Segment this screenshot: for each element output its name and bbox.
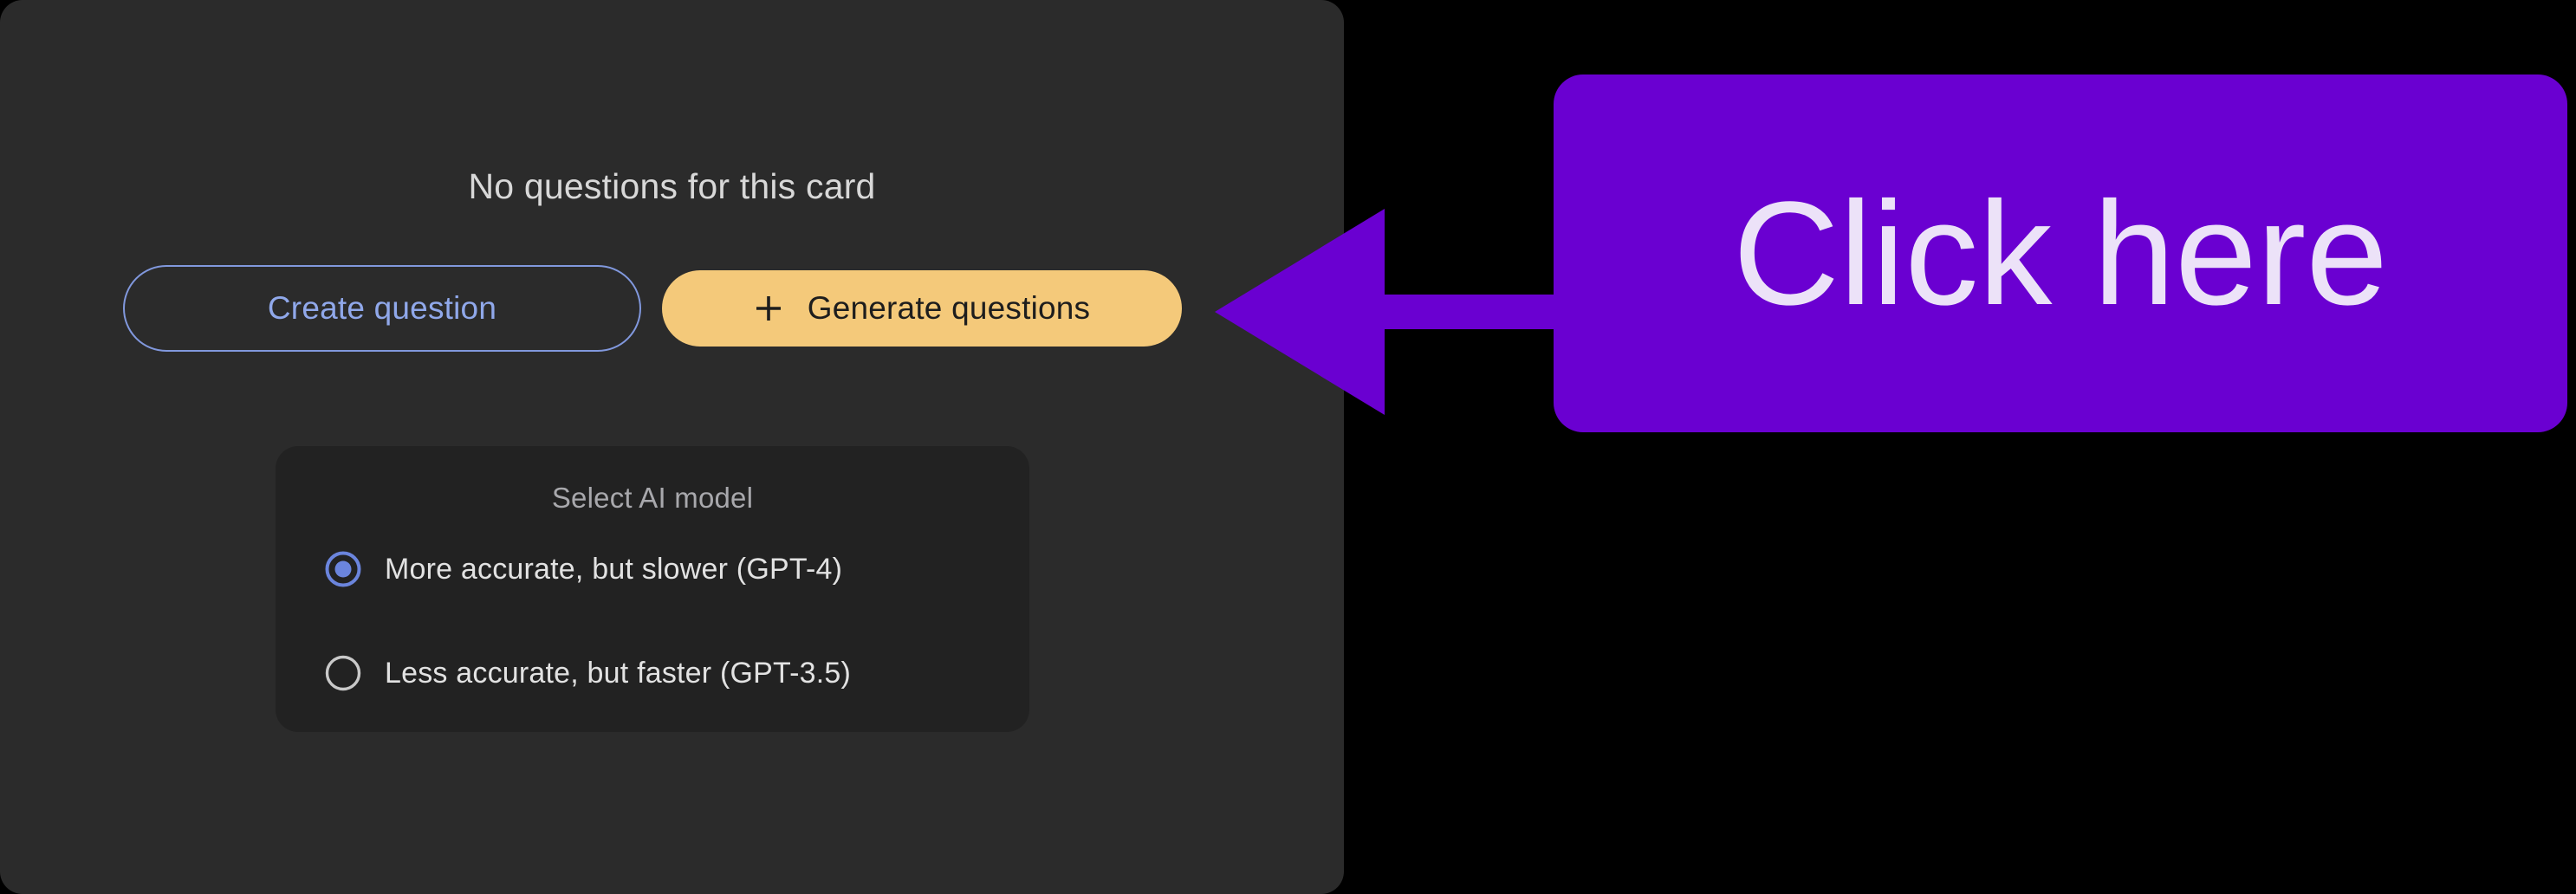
plus-icon <box>754 294 783 323</box>
generate-questions-button-label: Generate questions <box>808 290 1091 327</box>
radio-option-gpt-4-label: More accurate, but slower (GPT-4) <box>385 552 842 586</box>
click-here-callout-label: Click here <box>1733 176 2388 332</box>
radio-unselected-icon[interactable] <box>325 655 361 691</box>
generate-questions-button[interactable]: Generate questions <box>662 270 1182 347</box>
radio-option-gpt-3-5[interactable]: Less accurate, but faster (GPT-3.5) <box>325 647 1029 699</box>
ai-model-selector-title: Select AI model <box>276 481 1029 515</box>
question-card-body: No questions for this card Create questi… <box>0 0 1344 894</box>
page-title: No questions for this card <box>0 165 1344 208</box>
question-card: No questions for this card Create questi… <box>0 0 1344 894</box>
card-action-row: Create question Generate questions <box>123 264 1215 353</box>
radio-option-gpt-3-5-label: Less accurate, but faster (GPT-3.5) <box>385 656 851 690</box>
radio-option-gpt-4[interactable]: More accurate, but slower (GPT-4) <box>325 543 1029 595</box>
create-question-button[interactable]: Create question <box>123 265 641 352</box>
radio-selected-icon[interactable] <box>325 551 361 587</box>
ai-model-radio-group[interactable]: More accurate, but slower (GPT-4) Less a… <box>276 543 1029 699</box>
create-question-button-label: Create question <box>268 290 496 327</box>
screen-root: No questions for this card Create questi… <box>0 0 2576 894</box>
ai-model-selector-panel: Select AI model More accurate, but slowe… <box>276 446 1029 732</box>
click-here-callout: Click here <box>1554 74 2567 432</box>
